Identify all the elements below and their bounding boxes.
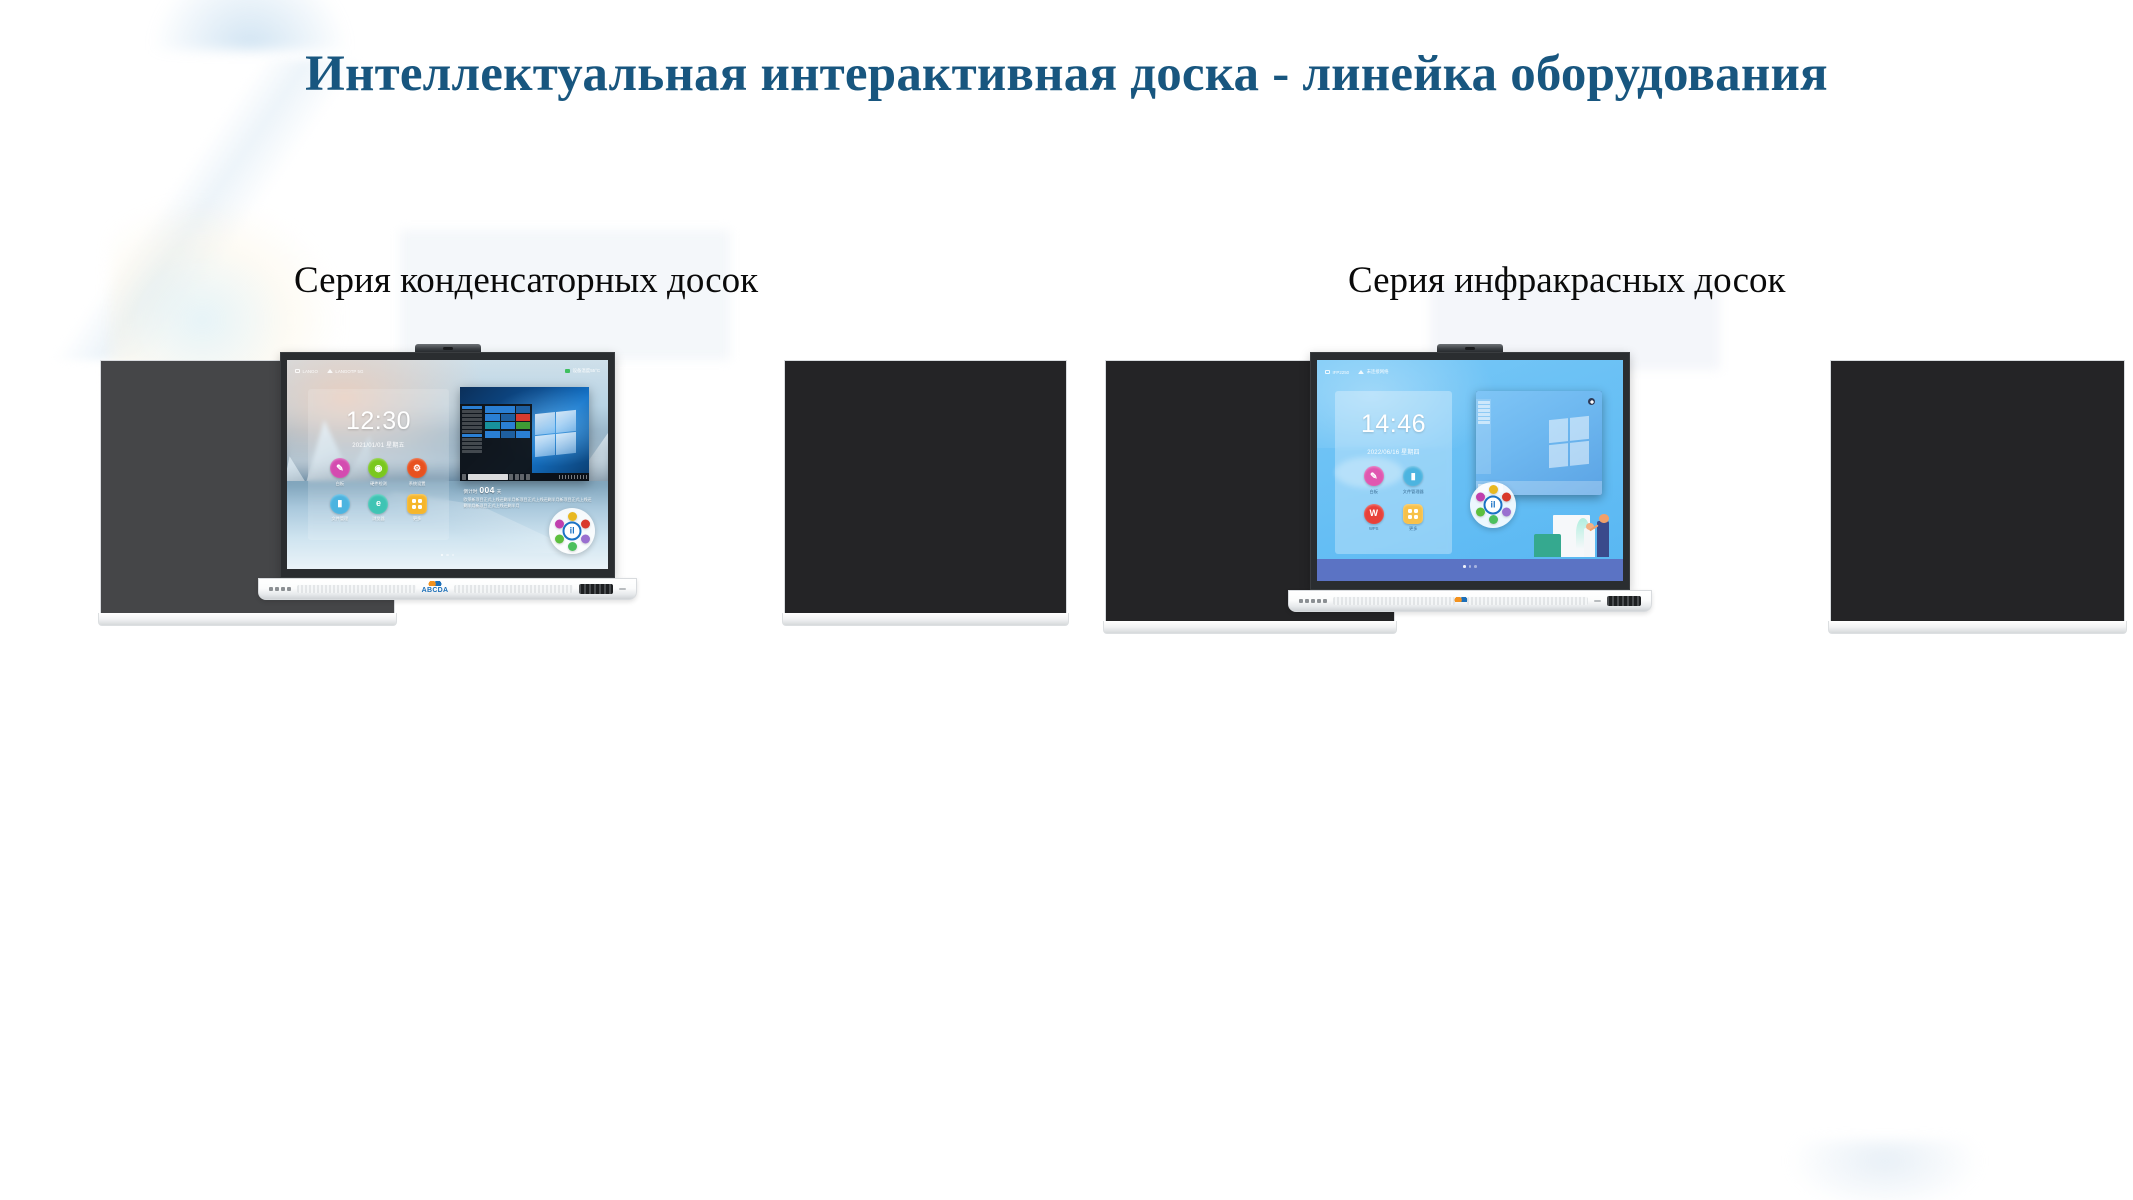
monitor-icon: [1325, 370, 1330, 374]
panel-foot: [1828, 621, 2127, 634]
wifi-icon: [1358, 370, 1364, 374]
radial-petal[interactable]: [568, 512, 577, 521]
status-device-label: LANGO: [303, 369, 318, 374]
radial-center-button[interactable]: il: [563, 522, 582, 541]
radial-petal[interactable]: [1489, 485, 1498, 494]
status-device: IFP2250: [1325, 370, 1349, 375]
app-file-manager[interactable]: ▮ 文件管理: [325, 494, 355, 523]
status-device: LANGO: [295, 369, 318, 374]
status-led: [619, 588, 626, 590]
status-network: 未连接网络: [1358, 369, 1388, 375]
speaker-grille-left: [297, 585, 416, 593]
panel-foot: [1103, 621, 1397, 634]
slide-canvas: Интеллектуальная интерактивная доска - л…: [0, 0, 2133, 1200]
section-title-capacitive: Серия конденсаторных досок: [294, 261, 758, 302]
wps-icon: W: [1364, 504, 1384, 524]
radial-petal[interactable]: [1502, 493, 1511, 502]
hardware-check-icon: ◉: [368, 458, 388, 478]
board-bottom-bar: [1288, 590, 1652, 612]
speaker-grille-right: [454, 585, 573, 593]
app-grid: ✎ 白板 ◉ 硬件检测 ⚙ 系统设置: [321, 458, 437, 522]
section-title-infrared: Серия инфракрасных досок: [1348, 261, 1786, 302]
status-temperature-label: 设备温度55°C: [573, 368, 600, 374]
io-port-panel: [1607, 596, 1641, 606]
app-file-manager[interactable]: ▮ 文件管理器: [1398, 466, 1428, 495]
app-more[interactable]: 更多: [1398, 504, 1428, 533]
whiteboard-icon: ✎: [1364, 466, 1384, 486]
board-screen[interactable]: IFP2250 未连接网络 14:46 2022/06/16 星期四 ✎: [1317, 360, 1623, 581]
page-dot[interactable]: [1463, 565, 1466, 568]
side-display-panel-right: [1830, 360, 2125, 622]
clock-time: 14:46: [1335, 412, 1451, 437]
status-network: LANGOTP 5G: [327, 369, 363, 374]
product-group-capacitive: LANGO LANGOTP 5G 设备温度55°C 12:30: [100, 352, 1070, 662]
thermometer-icon: [565, 369, 570, 373]
app-label: 白板: [336, 481, 344, 487]
home-widget-panel: 12:30 2021/01/01 星期五 ✎ 白板 ◉ 硬件检测: [308, 389, 449, 539]
start-menu-rail: [460, 404, 483, 473]
page-dot[interactable]: [1469, 565, 1472, 568]
app-grid: ✎ 白板 ▮ 文件管理器 W WPS: [1354, 466, 1433, 532]
system-tray: [559, 475, 586, 479]
home-widget-panel: 14:46 2022/06/16 星期四 ✎ 白板 ▮ 文件管理器: [1335, 391, 1451, 555]
status-bar: IFP2250 未连接网络: [1317, 360, 1623, 384]
news-ticker: 倒计时 004 天 欧莱新项目正式上线还剩半月新项目正式上线还剩半月新项目正式上…: [464, 485, 592, 509]
illus-person-one-body: [1597, 521, 1609, 557]
page-dot[interactable]: [1474, 565, 1477, 568]
app-label: WPS: [1369, 526, 1379, 531]
grid-icon: [407, 494, 427, 514]
windows-logo-icon: [1549, 416, 1589, 468]
taskbar-search-box[interactable]: [468, 474, 508, 479]
news-count: 004: [479, 485, 494, 495]
background-watermark-top: [150, 0, 350, 50]
illus-desk: [1534, 534, 1561, 557]
browser-icon: e: [368, 494, 388, 514]
start-menu-rail: [1476, 399, 1491, 474]
background-patch-bottom: [1790, 1140, 1980, 1200]
app-label: 白板: [1370, 489, 1378, 495]
control-buttons[interactable]: [1299, 599, 1327, 603]
whiteboard-icon: ✎: [330, 458, 350, 478]
app-hardware-check[interactable]: ◉ 硬件检测: [363, 458, 393, 487]
page-dot[interactable]: [452, 554, 455, 557]
background-streak: [0, 60, 420, 360]
illus-person-one-head: [1599, 514, 1609, 523]
board-bottom-bar: ABCDA: [258, 578, 637, 600]
speaker-grille-left: [1333, 597, 1455, 605]
app-label: 更多: [1409, 526, 1417, 532]
page-indicator[interactable]: [287, 554, 608, 557]
app-label: 硬件检测: [370, 481, 387, 487]
status-network-label: LANGOTP 5G: [335, 369, 363, 374]
app-more[interactable]: 更多: [402, 494, 432, 523]
status-bar: LANGO LANGOTP 5G 设备温度55°C: [287, 360, 608, 383]
radial-petal[interactable]: [581, 519, 590, 528]
app-wps[interactable]: W WPS: [1359, 504, 1389, 533]
app-system-settings[interactable]: ⚙ 系统设置: [402, 458, 432, 487]
app-label: 浏览器: [372, 516, 385, 522]
folder-icon: ▮: [330, 494, 350, 514]
status-temperature: 设备温度55°C: [565, 368, 600, 374]
page-dot[interactable]: [446, 554, 449, 557]
app-whiteboard[interactable]: ✎ 白板: [325, 458, 355, 487]
radial-petal[interactable]: [1476, 508, 1485, 517]
windows-desktop-window[interactable]: [1476, 391, 1601, 495]
page-title: Интеллектуальная интерактивная доска - л…: [0, 46, 2133, 102]
grid-icon: [1403, 504, 1423, 524]
wifi-icon: [327, 369, 333, 373]
radial-quick-menu[interactable]: il: [1470, 482, 1516, 528]
start-menu[interactable]: [460, 404, 532, 473]
start-menu[interactable]: [1476, 399, 1491, 474]
status-network-label: 未连接网络: [1367, 369, 1389, 375]
news-headline: 倒计时 004 天: [464, 485, 592, 495]
monitor-icon: [295, 369, 300, 373]
product-group-infrared: IFP2250 未连接网络 14:46 2022/06/16 星期四 ✎: [1105, 352, 2125, 662]
windows-logo-icon: [535, 409, 576, 457]
folder-icon: ▮: [1403, 466, 1423, 486]
app-whiteboard[interactable]: ✎ 白板: [1359, 466, 1389, 495]
control-buttons[interactable]: [269, 587, 291, 591]
clock-date: 2021/01/01 星期五: [308, 440, 449, 449]
illustration-classroom: [1534, 499, 1614, 556]
clock-date: 2022/06/16 星期四: [1335, 447, 1451, 456]
interactive-board-capacitive[interactable]: LANGO LANGOTP 5G 设备温度55°C 12:30: [280, 352, 615, 578]
clock-time: 12:30: [308, 409, 449, 434]
illus-person-two-body: [1584, 528, 1594, 557]
app-label: 文件管理器: [1403, 489, 1424, 495]
radial-petal[interactable]: [1489, 515, 1498, 524]
io-port-panel: [579, 584, 613, 594]
start-menu-tiles: [483, 404, 532, 473]
app-label: 更多: [413, 516, 421, 522]
news-body: 欧莱新项目正式上线还剩半月新项目正式上线还剩半月新项目正式上线还剩半月新项目正式…: [464, 497, 592, 509]
status-led: [1594, 600, 1601, 602]
news-prefix: 倒计时: [464, 489, 478, 495]
panel-foot: [782, 613, 1069, 626]
gear-icon: ⚙: [407, 458, 427, 478]
brand-logo: ABCDA: [422, 584, 449, 594]
windows-desktop-window[interactable]: [460, 387, 588, 481]
panel-foot: [98, 613, 397, 626]
speaker-grille-right: [1467, 597, 1589, 605]
page-indicator[interactable]: [1317, 565, 1623, 568]
app-label: 系统设置: [409, 481, 426, 487]
radial-petal[interactable]: [1502, 508, 1511, 517]
news-suffix: 天: [497, 489, 502, 495]
app-label: 文件管理: [331, 516, 348, 522]
interactive-board-infrared[interactable]: IFP2250 未连接网络 14:46 2022/06/16 星期四 ✎: [1310, 352, 1630, 590]
radial-petal[interactable]: [581, 534, 590, 543]
page-dot[interactable]: [441, 554, 444, 557]
radial-petal[interactable]: [555, 534, 564, 543]
status-device-label: IFP2250: [1333, 370, 1350, 375]
radial-petal[interactable]: [568, 542, 577, 551]
board-bezel: IFP2250 未连接网络 14:46 2022/06/16 星期四 ✎: [1310, 352, 1630, 590]
board-screen[interactable]: LANGO LANGOTP 5G 设备温度55°C 12:30: [287, 360, 608, 569]
side-display-panel-right: [784, 360, 1067, 614]
board-bezel: LANGO LANGOTP 5G 设备温度55°C 12:30: [280, 352, 615, 578]
windows-taskbar[interactable]: [460, 473, 588, 481]
app-browser[interactable]: e 浏览器: [363, 494, 393, 523]
radial-center-button[interactable]: il: [1484, 495, 1503, 514]
